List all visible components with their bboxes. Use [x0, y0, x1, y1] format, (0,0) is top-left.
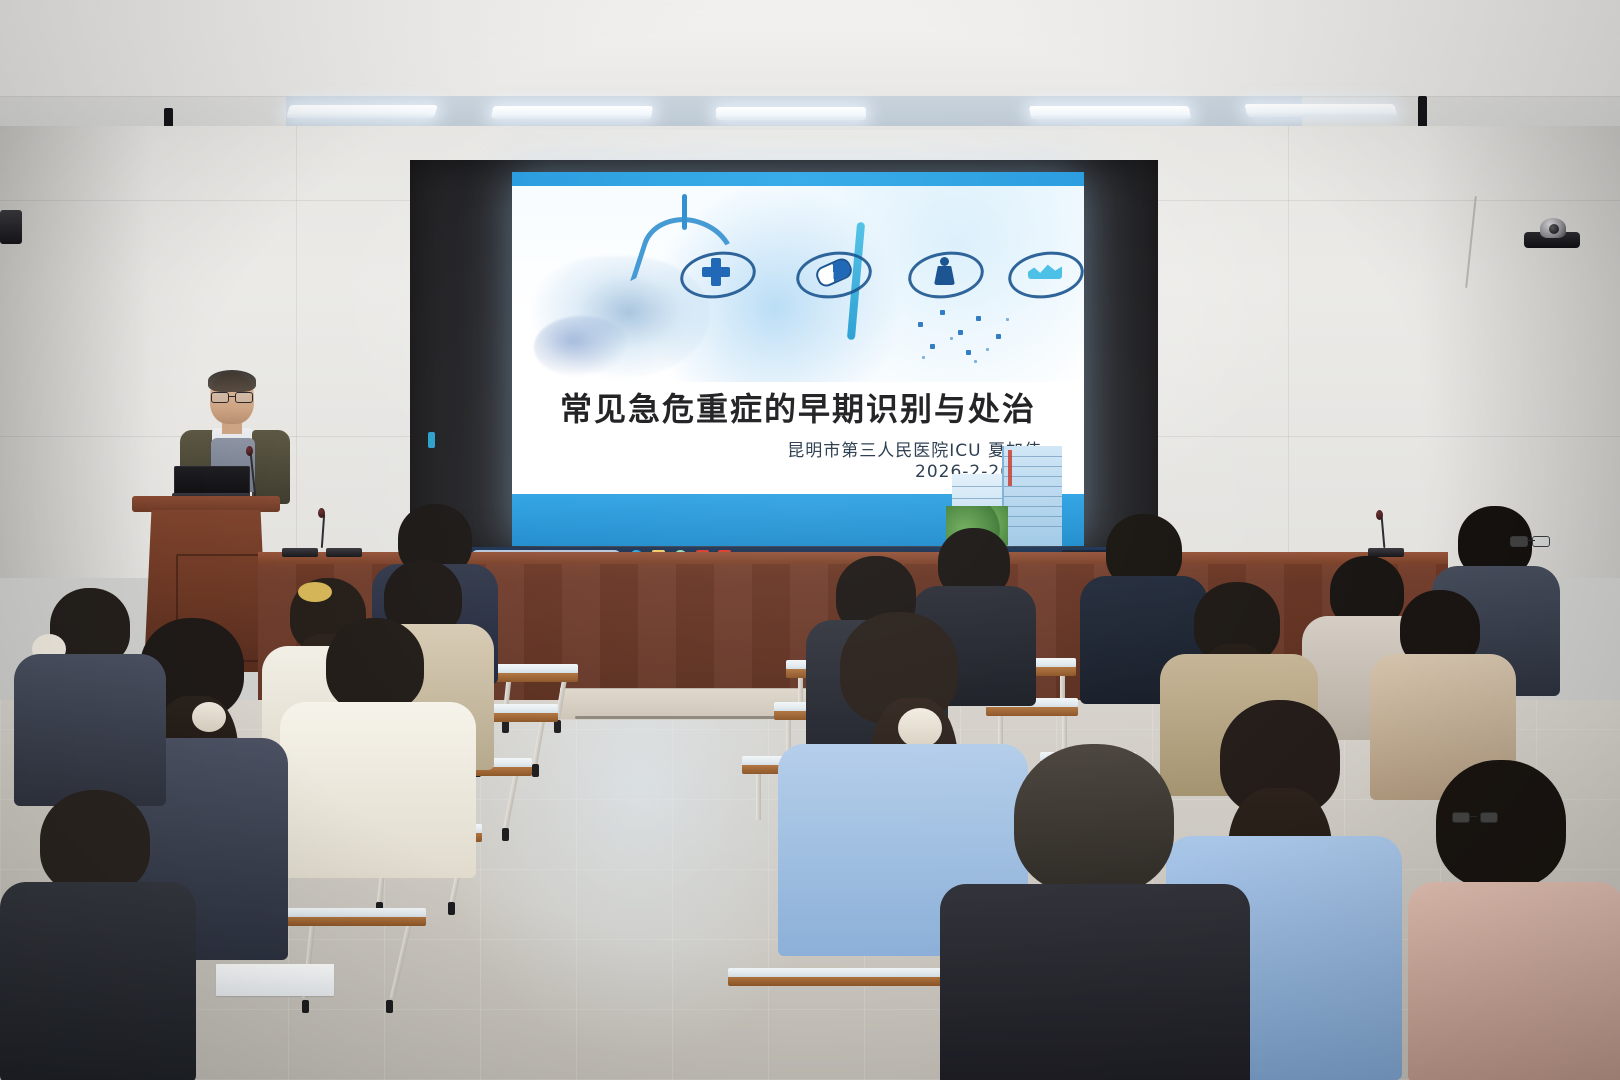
- lecture-hall-screenshot: 常见急危重症的早期识别与处治 昆明市第三人民医院ICU 夏加伟 2026-2-2…: [0, 0, 1620, 1080]
- presenter-laptop: [172, 466, 250, 500]
- wall-seam-vertical: [296, 126, 297, 578]
- led-strip-2-light: [491, 106, 653, 119]
- led-strip-1-light: [286, 105, 438, 118]
- podium-mic-head: [246, 446, 253, 456]
- camera-lens: [1549, 224, 1559, 234]
- ptz-camera-icon: [1524, 218, 1580, 248]
- hair: [208, 370, 256, 392]
- stethoscope-stem: [682, 194, 687, 230]
- table-mic-1-head: [318, 508, 325, 518]
- slide-title: 常见急危重症的早期识别与处治: [512, 384, 1084, 430]
- wall-seam-vertical: [1288, 126, 1289, 578]
- slide-date: 2026-2-26: [512, 462, 1012, 482]
- ceiling-slab: [0, 0, 1620, 97]
- data-dots-graphic: [910, 304, 1022, 366]
- wall-shadow: [0, 126, 150, 578]
- screen-indicator-light: [428, 432, 435, 448]
- laptop-screen: [174, 466, 250, 496]
- table-mic-3-head: [1376, 510, 1383, 520]
- podium-top: [132, 496, 280, 512]
- audience-person: [940, 744, 1250, 1080]
- table-mic-1-base: [282, 548, 318, 557]
- cross-glyph: [702, 258, 730, 286]
- slide-hero-image: [512, 186, 1084, 382]
- led-strip-4-light: [1029, 106, 1191, 119]
- person-glyph: [934, 257, 954, 285]
- audience-person: [14, 588, 166, 804]
- building-sign: [1008, 450, 1012, 486]
- slide-top-accent-bar: [512, 172, 1084, 186]
- paper-sheet: [216, 964, 334, 996]
- audience-person: [280, 618, 476, 876]
- audience-person: [1408, 760, 1620, 1080]
- presentation-slide: 常见急危重症的早期识别与处治 昆明市第三人民医院ICU 夏加伟 2026-2-2…: [512, 172, 1084, 546]
- person-head: [940, 257, 949, 266]
- table-mic-2-base: [326, 548, 362, 557]
- wall-speaker-icon: [0, 210, 22, 244]
- audience-person: [0, 790, 196, 1080]
- glasses-icon: [211, 392, 253, 401]
- person-body: [934, 266, 955, 285]
- led-strip-3-light: [716, 107, 866, 120]
- jacket-right: [252, 430, 290, 504]
